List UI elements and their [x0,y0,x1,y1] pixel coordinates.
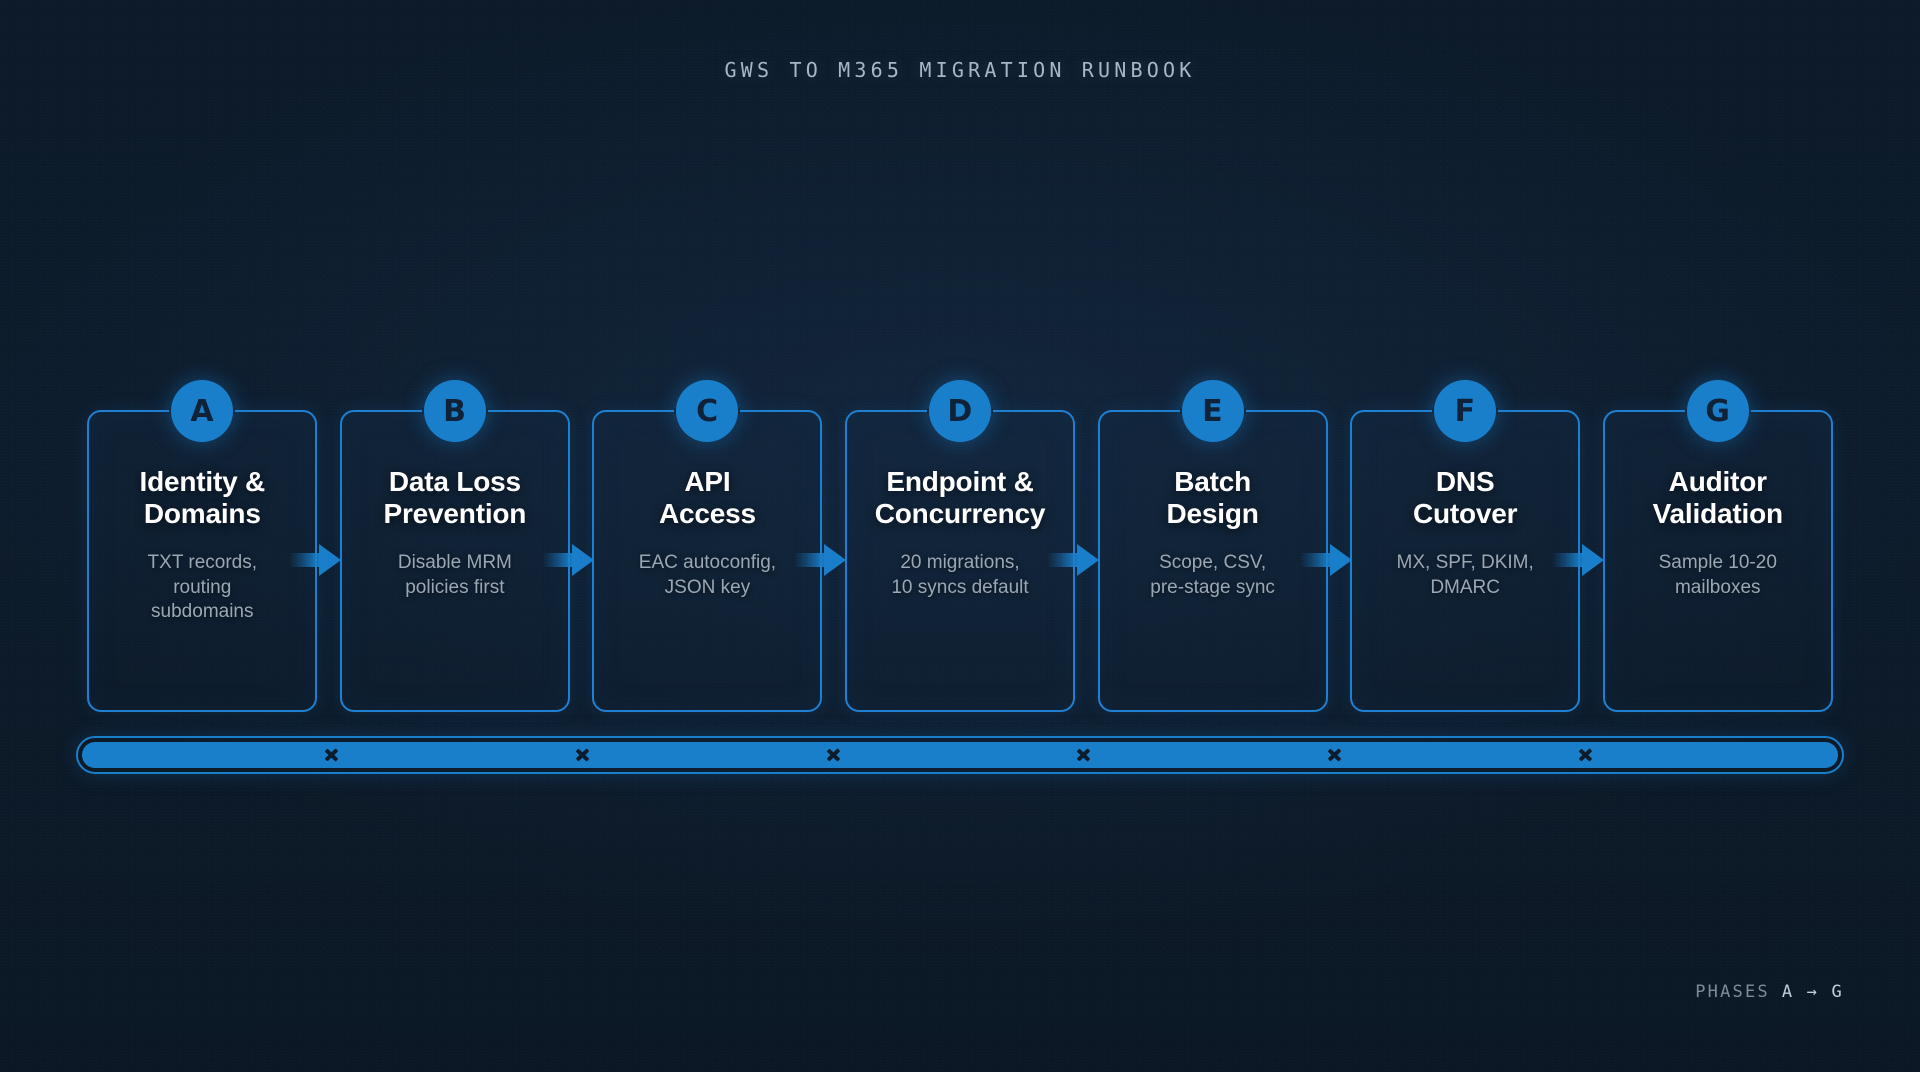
phase-title: API Access [608,466,806,529]
chevron-right-icon [1329,744,1343,766]
phase-progress-bar [76,736,1844,774]
phase-card-body: Batch DesignScope, CSV, pre-stage sync [1100,466,1326,600]
phase-title: Identity & Domains [103,466,301,529]
phase-subtitle: Scope, CSV, pre-stage sync [1114,551,1312,600]
phase-title: Batch Design [1114,466,1312,529]
phase-rail: AIdentity & DomainsTXT records, routing … [76,410,1844,712]
phase-slot: EBatch DesignScope, CSV, pre-stage sync [1086,410,1339,712]
phase-subtitle: Sample 10-20 mailboxes [1619,551,1817,600]
phase-card[interactable]: DEndpoint & Concurrency20 migrations, 10… [845,410,1075,712]
phase-slot: AIdentity & DomainsTXT records, routing … [76,410,329,712]
phase-card-body: Identity & DomainsTXT records, routing s… [89,466,315,624]
phase-card[interactable]: GAuditor ValidationSample 10-20 mailboxe… [1603,410,1833,712]
phase-subtitle: 20 migrations, 10 syncs default [861,551,1059,600]
phase-slot: FDNS CutoverMX, SPF, DKIM, DMARC [1339,410,1592,712]
phase-card[interactable]: BData Loss PreventionDisable MRM policie… [340,410,570,712]
phase-title: Data Loss Prevention [356,466,554,529]
phase-badge: B [424,380,486,442]
chevron-right-icon [1078,744,1092,766]
phase-progress-fill [82,742,1838,768]
phase-subtitle: Disable MRM policies first [356,551,554,600]
chevron-right-icon [828,744,842,766]
phase-badge: A [171,380,233,442]
phase-subtitle: TXT records, routing subdomains [103,551,301,624]
phase-badge: D [929,380,991,442]
phase-subtitle: EAC autoconfig, JSON key [608,551,806,600]
phase-title: Endpoint & Concurrency [861,466,1059,529]
phase-badge: C [676,380,738,442]
phase-subtitle: MX, SPF, DKIM, DMARC [1366,551,1564,600]
phase-card-body: Auditor ValidationSample 10-20 mailboxes [1605,466,1831,600]
phase-card-body: Data Loss PreventionDisable MRM policies… [342,466,568,600]
phase-badge: F [1434,380,1496,442]
phase-card-body: Endpoint & Concurrency20 migrations, 10 … [847,466,1073,600]
page-title: GWS TO M365 MIGRATION RUNBOOK [0,58,1920,82]
phase-card[interactable]: EBatch DesignScope, CSV, pre-stage sync [1098,410,1328,712]
footer-range: A → G [1782,982,1844,1002]
chevron-right-icon [577,744,591,766]
phase-slot: CAPI AccessEAC autoconfig, JSON key [581,410,834,712]
phase-card[interactable]: CAPI AccessEAC autoconfig, JSON key [592,410,822,712]
phase-slot: BData Loss PreventionDisable MRM policie… [329,410,582,712]
footer-label: PHASES [1695,982,1770,1002]
phase-slot: GAuditor ValidationSample 10-20 mailboxe… [1591,410,1844,712]
phase-slot: DEndpoint & Concurrency20 migrations, 10… [834,410,1087,712]
phase-card-body: API AccessEAC autoconfig, JSON key [594,466,820,600]
chevron-right-icon [326,744,340,766]
phase-card-body: DNS CutoverMX, SPF, DKIM, DMARC [1352,466,1578,600]
chevron-right-icon [1580,744,1594,766]
phase-badge: G [1687,380,1749,442]
phase-card[interactable]: AIdentity & DomainsTXT records, routing … [87,410,317,712]
footer-phases-legend: PHASESA → G [1695,982,1844,1002]
phase-title: Auditor Validation [1619,466,1817,529]
phase-badge: E [1182,380,1244,442]
phase-card[interactable]: FDNS CutoverMX, SPF, DKIM, DMARC [1350,410,1580,712]
phase-title: DNS Cutover [1366,466,1564,529]
